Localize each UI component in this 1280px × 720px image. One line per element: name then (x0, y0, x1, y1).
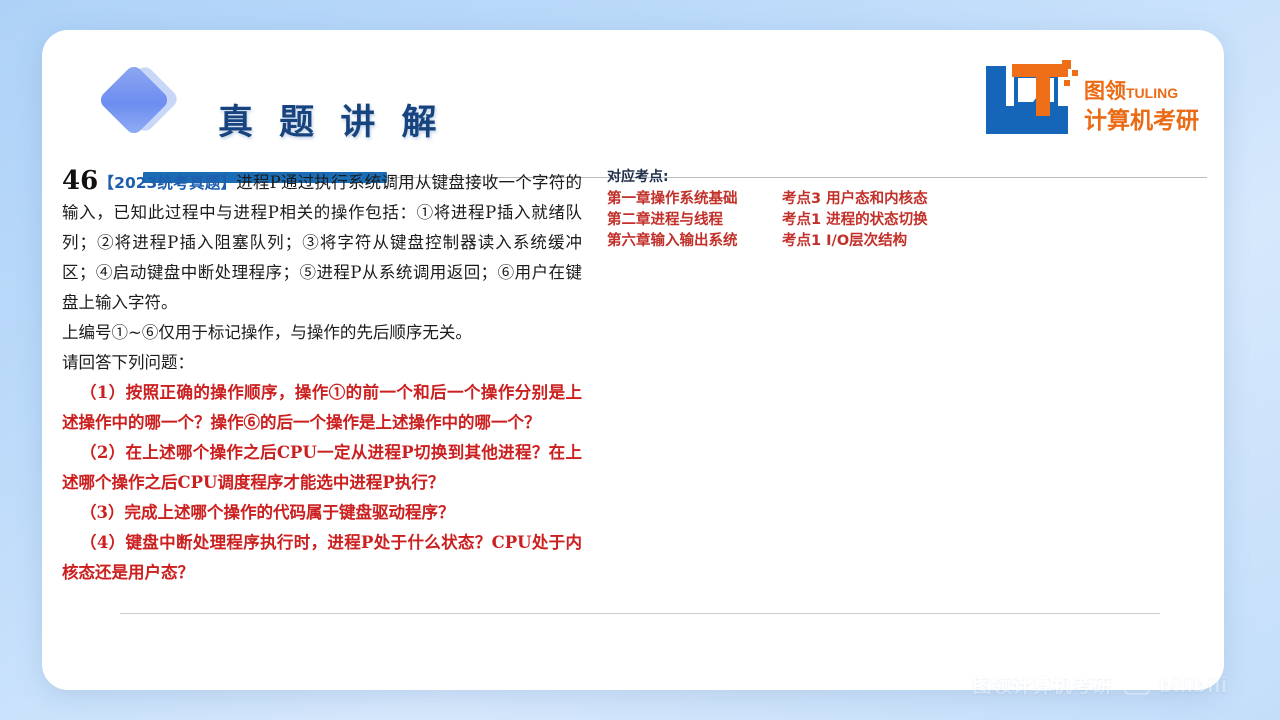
question-tag: 【2023统考真题】 (98, 174, 236, 192)
key-point-chapter: 第六章输入输出系统 (607, 231, 782, 252)
table-row: 第一章操作系统基础 考点3 用户态和内核态 (607, 189, 928, 210)
brand-subtitle: 计算机考研 (1084, 108, 1196, 134)
brand-name-cn: 图领 (1084, 79, 1126, 103)
diamond-icon (100, 62, 178, 140)
slide-card: 真 题 讲 解 (42, 30, 1224, 690)
sub-question-2: （2）在上述哪个操作之后CPU一定从进程P切换到其他进程？在上述哪个操作之后CP… (62, 438, 582, 498)
key-point-topic: 考点1 进程的状态切换 (782, 210, 928, 231)
brand-logo: 图领TULING 计算机考研 (984, 58, 1194, 150)
sub-question-1: （1）按照正确的操作顺序，操作①的前一个和后一个操作分别是上述操作中的哪一个？操… (62, 378, 582, 438)
sub-question-3: （3）完成上述哪个操作的代码属于键盘驱动程序？ (62, 498, 582, 528)
slide-body: 46【2023统考真题】进程P通过执行系统调用从键盘接收一个字符的输入，已知此过… (42, 148, 1224, 690)
footer-divider (120, 613, 1160, 614)
slide-header: 真 题 讲 解 (42, 30, 1224, 148)
key-points-table: 第一章操作系统基础 考点3 用户态和内核态 第二章进程与线程 考点1 进程的状态… (607, 189, 928, 252)
table-row: 第六章输入输出系统 考点1 I/O层次结构 (607, 231, 928, 252)
brand-logo-text: 图领TULING 计算机考研 (1084, 80, 1196, 134)
key-points-column: 对应考点: 第一章操作系统基础 考点3 用户态和内核态 第二章进程与线程 考点1… (607, 166, 1007, 252)
key-point-topic: 考点1 I/O层次结构 (782, 231, 928, 252)
key-point-chapter: 第一章操作系统基础 (607, 189, 782, 210)
question-stem: 进程P通过执行系统调用从键盘接收一个字符的输入，已知此过程中与进程P相关的操作包… (62, 173, 582, 312)
question-note: 上编号①~⑥仅用于标记操作，与操作的先后顺序无关。 (62, 318, 582, 348)
page-title: 真 题 讲 解 (218, 94, 444, 145)
key-points-heading: 对应考点: (607, 166, 1007, 186)
question-stem-block: 46【2023统考真题】进程P通过执行系统调用从键盘接收一个字符的输入，已知此过… (62, 166, 582, 318)
question-number: 46 (62, 166, 98, 196)
tuling-logo-icon (984, 60, 1080, 153)
question-column: 46【2023统考真题】进程P通过执行系统调用从键盘接收一个字符的输入，已知此过… (62, 166, 582, 588)
sub-question-4: （4）键盘中断处理程序执行时，进程P处于什么状态？CPU处于内核态还是用户态？ (62, 528, 582, 588)
brand-name-row: 图领TULING (1084, 80, 1196, 105)
question-prompt: 请回答下列问题： (62, 348, 582, 378)
key-point-topic: 考点3 用户态和内核态 (782, 189, 928, 210)
table-row: 第二章进程与线程 考点1 进程的状态切换 (607, 210, 928, 231)
brand-name-en: TULING (1126, 85, 1178, 101)
key-point-chapter: 第二章进程与线程 (607, 210, 782, 231)
diamond-front-shape (97, 63, 171, 137)
